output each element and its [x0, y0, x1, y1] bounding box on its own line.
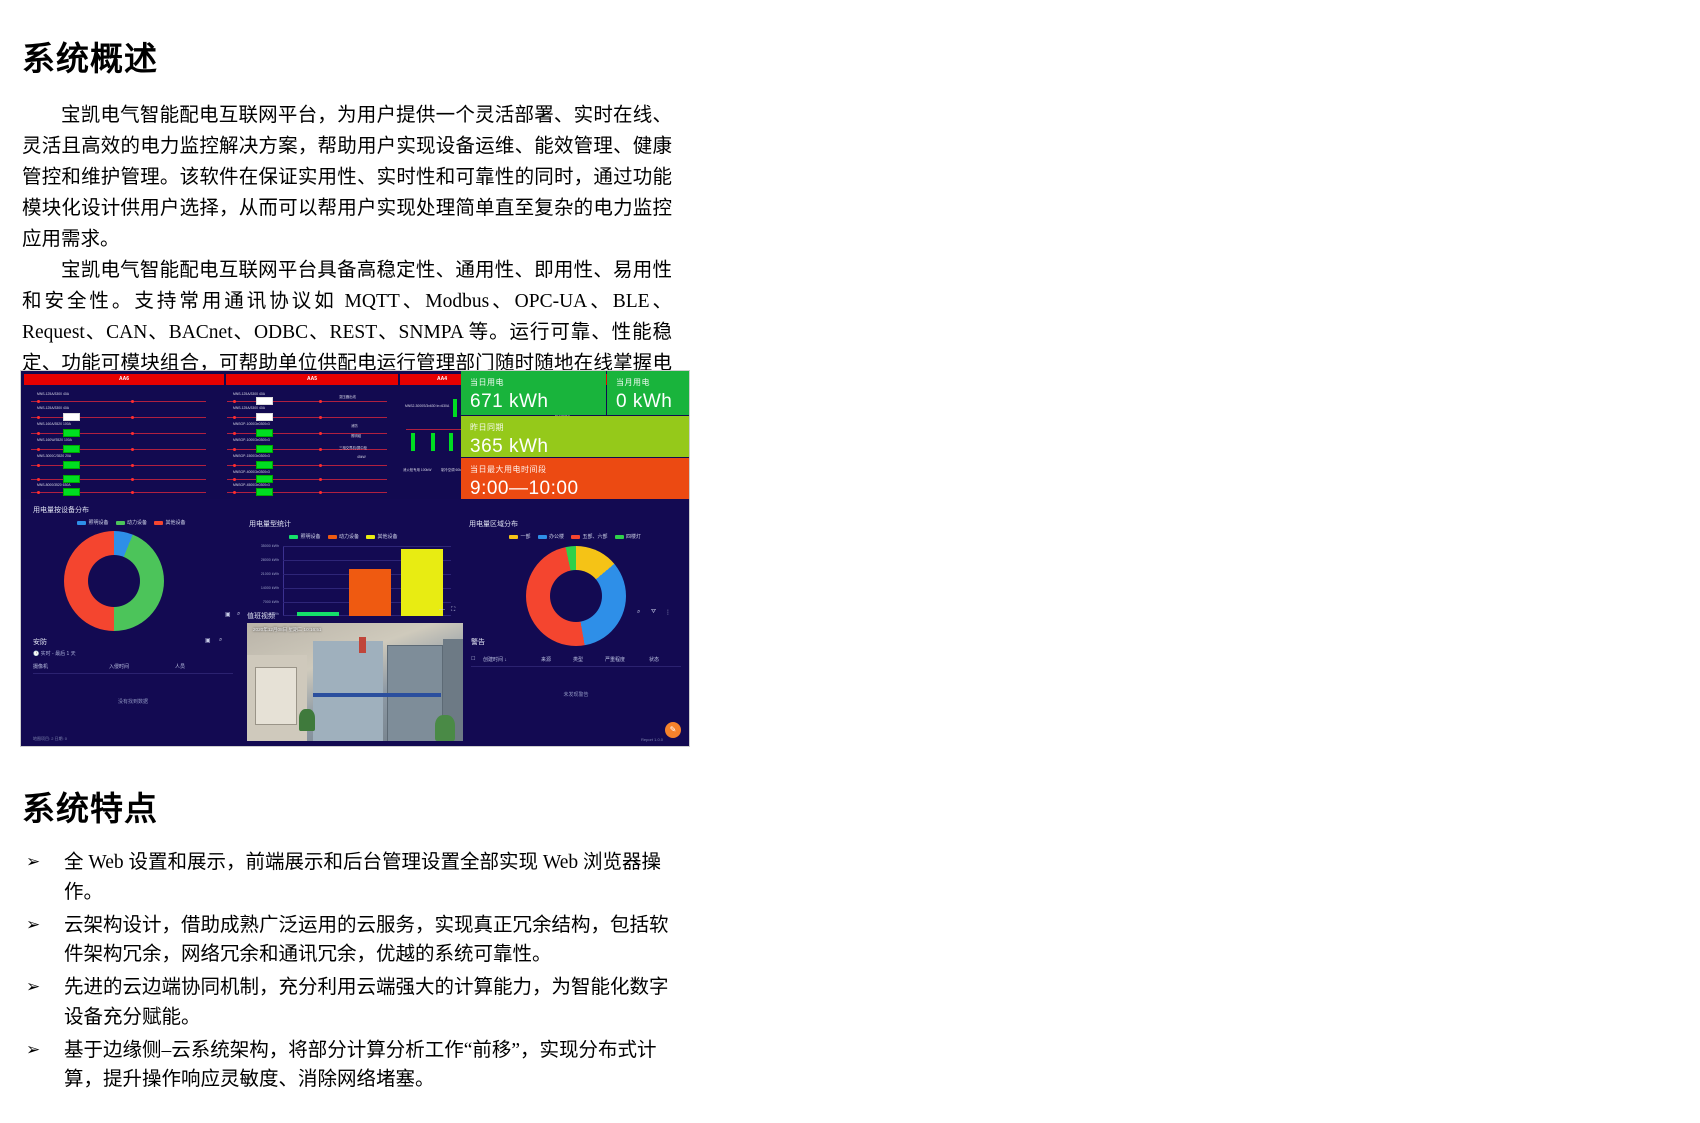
kpi-today-label: 当日用电 [470, 377, 597, 388]
col-person: 人员 [175, 663, 215, 670]
right-column: 关键指标 ➢连续工作时间（平均无故障时间）≥2000 小时； ➢吞吐量≥1250… [850, 0, 1700, 1123]
dashboard-screenshot: AA6 AA5 AA4 AA3 AA2 AA1 MNS-125A/3300 40… [20, 370, 690, 747]
alarm-table-panel: 警告 ☐ 创建时间 ↓ 来源 类型 严重程度 状态 未发现警告 [471, 637, 681, 698]
clock-icon: 🕐 [33, 651, 39, 657]
select-all-checkbox[interactable]: ☐ [471, 656, 483, 663]
col-source: 来源 [541, 656, 573, 663]
security-table-header: 摄像机 入侵时间 人员 [33, 663, 233, 674]
footer-right: Report 1.0.0 [641, 737, 663, 742]
document-page: 系统概述 宝凯电气智能配电互联网平台，为用户提供一个灵活部署、实时在线、灵活且高… [0, 0, 1700, 1123]
arrow-bullet-icon: ➢ [26, 973, 40, 1003]
minimize-icon[interactable]: — [439, 607, 445, 613]
camera-icon-video[interactable]: ▣ [225, 611, 231, 618]
bar-lighting [297, 612, 339, 616]
security-table-empty: 没有找到数据 [33, 698, 233, 705]
system-features-list: ➢全 Web 设置和展示，前端展示和后台管理设置全部实现 Web 浏览器操作。 … [22, 848, 672, 1098]
kpi-month-value: 0 kWh [616, 391, 680, 413]
arrow-bullet-icon: ➢ [26, 911, 40, 941]
kpi-month-consumption: 当月用电 0 kWh [607, 371, 689, 415]
col-created-time: 创建时间 ↓ [483, 656, 541, 663]
arrow-bullet-icon: ➢ [26, 1036, 40, 1066]
col-severity: 严重程度 [605, 656, 649, 663]
list-item: ➢基于边缘侧–云系统架构，将部分计算分析工作“前移”，实现分布式计算，提升操作响… [22, 1036, 672, 1095]
col-intrusion-time: 入侵时间 [109, 663, 175, 670]
footer-left: 地图项目: 2 日期: 0 [33, 736, 67, 742]
bar-other [401, 549, 443, 616]
search-icon[interactable]: ⌕ [219, 637, 222, 644]
filter-icon-alarm[interactable]: ⛛ [651, 609, 656, 616]
sld-section-aa5: AA5 [226, 374, 398, 385]
overview-paragraph-1: 宝凯电气智能配电互联网平台，为用户提供一个灵活部署、实时在线、灵活且高效的电力监… [22, 100, 672, 255]
donut-area [526, 546, 626, 646]
kpi-today-consumption: 当日用电 671 kWh [461, 371, 606, 415]
list-item: ➢先进的云边端协同机制，充分利用云端强大的计算能力，为智能化数字设备充分赋能。 [22, 973, 672, 1032]
cctv-feed[interactable]: 2020年12月08日 星期二 10:16:51 [247, 623, 463, 741]
col-camera: 摄像机 [33, 663, 109, 670]
legend-area-donut: 一部 办公楼 五部、六部 四楼灯 [509, 533, 641, 540]
legend-type-bar: 照明设备 动力设备 其他设备 [289, 533, 398, 540]
camera-icon[interactable]: ▣ [205, 637, 211, 644]
security-table-panel: 安防 🕐 实时 - 最后 1 天 摄像机 入侵时间 人员 没有找到数据 [33, 637, 233, 705]
left-column: 系统概述 宝凯电气智能配电互联网平台，为用户提供一个灵活部署、实时在线、灵活且高… [0, 0, 850, 1123]
kpi-peak-period: 当日最大用电时间段 9:00—10:00 [461, 458, 689, 499]
alarm-table-header: ☐ 创建时间 ↓ 来源 类型 严重程度 状态 [471, 656, 681, 667]
legend-device-donut: 照明设备 动力设备 其他设备 [77, 519, 186, 526]
kpi-month-label: 当月用电 [616, 377, 680, 388]
list-item: ➢云架构设计，借助成熟广泛运用的云服务，实现真正冗余结构，包括软件架构冗余，网络… [22, 911, 672, 970]
kpi-today-value: 671 kWh [470, 391, 597, 413]
list-item: ➢全 Web 设置和展示，前端展示和后台管理设置全部实现 Web 浏览器操作。 [22, 848, 672, 907]
page-title-system-overview: 系统概述 [22, 32, 158, 80]
col-status: 状态 [649, 656, 679, 663]
security-panel-subtitle: 🕐 实时 - 最后 1 天 [33, 650, 233, 657]
kpi-yesterday-label: 昨日同期 [470, 422, 680, 433]
cctv-timestamp: 2020年12月08日 星期二 10:16:51 [253, 627, 321, 633]
kpi-peak-value: 9:00—10:00 [470, 478, 680, 500]
kpi-peak-label: 当日最大用电时间段 [470, 464, 680, 475]
donut-device [64, 531, 164, 631]
alarm-panel-title: 警告 [471, 637, 681, 647]
arrow-bullet-icon: ➢ [26, 848, 40, 878]
barchart-plot-area: 35000 kWh 28000 kWh 21000 kWh 14000 kWh … [283, 546, 451, 616]
edit-button[interactable]: ✎ [665, 722, 681, 738]
bar-power [349, 569, 391, 616]
menu-icon-alarm[interactable]: ⋮ [665, 609, 671, 616]
sld-section-aa6: AA6 [24, 374, 224, 385]
security-panel-title: 安防 [33, 637, 233, 647]
search-icon-alarm[interactable]: ⌕ [637, 609, 640, 616]
kpi-yesterday-consumption: 昨日同期 365 kWh [461, 416, 689, 457]
page-title-system-features: 系统特点 [22, 782, 158, 830]
alarm-table-empty: 未发现警告 [471, 691, 681, 698]
expand-icon[interactable]: ⛶ [451, 607, 455, 614]
search-icon-video[interactable]: ⌕ [237, 611, 240, 618]
col-type: 类型 [573, 656, 605, 663]
kpi-yesterday-value: 365 kWh [470, 436, 680, 458]
